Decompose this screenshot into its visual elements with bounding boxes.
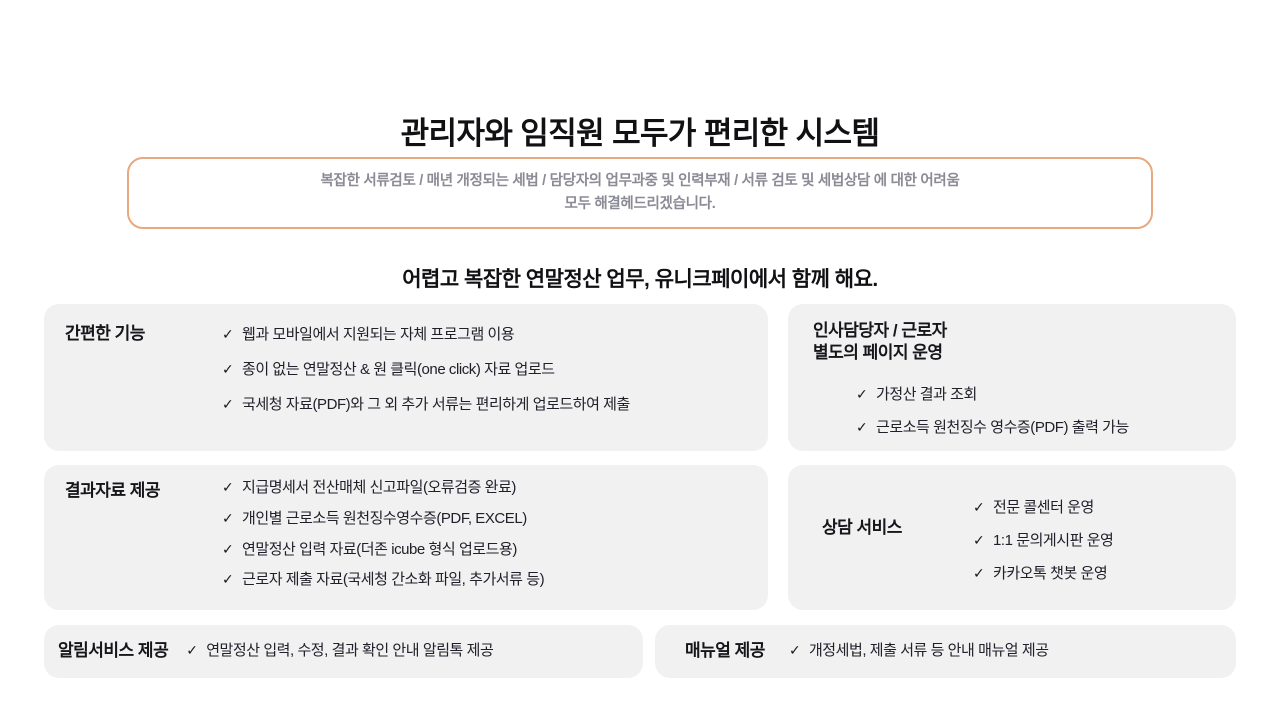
list-item-label: 종이 없는 연말정산 & 원 클릭(one click) 자료 업로드 xyxy=(242,361,630,380)
check-icon: ✓ xyxy=(186,642,206,660)
list-item: ✓ 근로소득 원천징수 영수증(PDF) 출력 가능 xyxy=(856,419,1129,438)
list-item-label: 근로자 제출 자료(국세청 간소화 파일, 추가서류 등) xyxy=(242,571,544,590)
card-title: 인사담당자 / 근로자 별도의 페이지 운영 xyxy=(813,320,947,365)
feature-card-simple-features: 간편한 기능 ✓ 웹과 모바일에서 지원되는 자체 프로그램 이용 ✓ 종이 없… xyxy=(44,304,768,451)
list-item-label: 개인별 근로소득 원천징수영수증(PDF, EXCEL) xyxy=(242,510,544,529)
check-icon: ✓ xyxy=(222,326,242,344)
list-item: ✓ 전문 콜센터 운영 xyxy=(973,499,1113,518)
card-title: 매뉴얼 제공 xyxy=(685,640,765,662)
list-item-label: 가정산 결과 조회 xyxy=(876,386,1129,405)
list-item: ✓ 개인별 근로소득 원천징수영수증(PDF, EXCEL) xyxy=(222,510,544,529)
list-item-label: 웹과 모바일에서 지원되는 자체 프로그램 이용 xyxy=(242,326,630,345)
list-item: ✓ 연말정산 입력, 수정, 결과 확인 안내 알림톡 제공 xyxy=(186,642,493,661)
check-icon: ✓ xyxy=(222,510,242,528)
card-title: 상담 서비스 xyxy=(822,517,902,539)
check-icon: ✓ xyxy=(222,479,242,497)
list-item-label: 지급명세서 전산매체 신고파일(오류검증 완료) xyxy=(242,479,544,498)
check-icon: ✓ xyxy=(222,396,242,414)
card-bullet-list: ✓ 지급명세서 전산매체 신고파일(오류검증 완료) ✓ 개인별 근로소득 원천… xyxy=(222,479,544,590)
list-item-label: 연말정산 입력 자료(더존 icube 형식 업로드용) xyxy=(242,541,544,560)
list-item: ✓ 가정산 결과 조회 xyxy=(856,386,1129,405)
check-icon: ✓ xyxy=(222,541,242,559)
check-icon: ✓ xyxy=(222,571,242,589)
page-title: 관리자와 임직원 모두가 편리한 시스템 xyxy=(0,115,1280,154)
card-title: 간편한 기능 xyxy=(65,323,145,345)
list-item: ✓ 근로자 제출 자료(국세청 간소화 파일, 추가서류 등) xyxy=(222,571,544,590)
check-icon: ✓ xyxy=(856,419,876,437)
list-item: ✓ 국세청 자료(PDF)와 그 외 추가 서류는 편리하게 업로드하여 제출 xyxy=(222,396,630,415)
check-icon: ✓ xyxy=(222,361,242,379)
feature-card-manual: 매뉴얼 제공 ✓ 개정세법, 제출 서류 등 안내 매뉴얼 제공 xyxy=(655,625,1236,678)
card-title: 결과자료 제공 xyxy=(65,480,160,502)
card-bullet-list: ✓ 가정산 결과 조회 ✓ 근로소득 원천징수 영수증(PDF) 출력 가능 xyxy=(856,386,1129,438)
list-item-label: 전문 콜센터 운영 xyxy=(993,499,1113,518)
list-item-label: 1:1 문의게시판 운영 xyxy=(993,532,1113,551)
list-item-label: 개정세법, 제출 서류 등 안내 매뉴얼 제공 xyxy=(809,642,1049,661)
list-item: ✓ 카카오톡 챗봇 운영 xyxy=(973,565,1113,584)
card-title: 알림서비스 제공 xyxy=(58,640,168,662)
check-icon: ✓ xyxy=(789,642,809,660)
feature-card-result-data: 결과자료 제공 ✓ 지급명세서 전산매체 신고파일(오류검증 완료) ✓ 개인별… xyxy=(44,465,768,610)
check-icon: ✓ xyxy=(973,499,993,517)
list-item: ✓ 웹과 모바일에서 지원되는 자체 프로그램 이용 xyxy=(222,326,630,345)
pain-point-callout: 복잡한 서류검토 / 매년 개정되는 세법 / 담당자의 업무과중 및 인력부재… xyxy=(127,157,1153,229)
list-item: ✓ 1:1 문의게시판 운영 xyxy=(973,532,1113,551)
card-bullet-list: ✓ 웹과 모바일에서 지원되는 자체 프로그램 이용 ✓ 종이 없는 연말정산 … xyxy=(222,326,630,414)
slide-root: 관리자와 임직원 모두가 편리한 시스템 복잡한 서류검토 / 매년 개정되는 … xyxy=(0,0,1280,720)
check-icon: ✓ xyxy=(973,565,993,583)
list-item-label: 국세청 자료(PDF)와 그 외 추가 서류는 편리하게 업로드하여 제출 xyxy=(242,396,630,415)
list-item-label: 연말정산 입력, 수정, 결과 확인 안내 알림톡 제공 xyxy=(206,642,493,661)
feature-card-notification: 알림서비스 제공 ✓ 연말정산 입력, 수정, 결과 확인 안내 알림톡 제공 xyxy=(44,625,643,678)
card-bullet-list: ✓ 전문 콜센터 운영 ✓ 1:1 문의게시판 운영 ✓ 카카오톡 챗봇 운영 xyxy=(973,499,1113,583)
callout-line-1: 복잡한 서류검토 / 매년 개정되는 세법 / 담당자의 업무과중 및 인력부재… xyxy=(320,173,959,190)
list-item: ✓ 지급명세서 전산매체 신고파일(오류검증 완료) xyxy=(222,479,544,498)
card-bullet-list: ✓ 연말정산 입력, 수정, 결과 확인 안내 알림톡 제공 xyxy=(186,642,493,661)
page-subtitle: 어렵고 복잡한 연말정산 업무, 유니크페이에서 함께 해요. xyxy=(0,263,1280,293)
list-item: ✓ 개정세법, 제출 서류 등 안내 매뉴얼 제공 xyxy=(789,642,1049,661)
list-item-label: 근로소득 원천징수 영수증(PDF) 출력 가능 xyxy=(876,419,1129,438)
feature-card-consulting: 상담 서비스 ✓ 전문 콜센터 운영 ✓ 1:1 문의게시판 운영 ✓ 카카오톡… xyxy=(788,465,1236,610)
list-item: ✓ 종이 없는 연말정산 & 원 클릭(one click) 자료 업로드 xyxy=(222,361,630,380)
list-item: ✓ 연말정산 입력 자료(더존 icube 형식 업로드용) xyxy=(222,541,544,560)
check-icon: ✓ xyxy=(856,386,876,404)
check-icon: ✓ xyxy=(973,532,993,550)
card-bullet-list: ✓ 개정세법, 제출 서류 등 안내 매뉴얼 제공 xyxy=(789,642,1049,661)
callout-line-2: 모두 해결헤드리겠습니다. xyxy=(565,196,716,213)
feature-card-hr-employee: 인사담당자 / 근로자 별도의 페이지 운영 ✓ 가정산 결과 조회 ✓ 근로소… xyxy=(788,304,1236,451)
list-item-label: 카카오톡 챗봇 운영 xyxy=(993,565,1113,584)
